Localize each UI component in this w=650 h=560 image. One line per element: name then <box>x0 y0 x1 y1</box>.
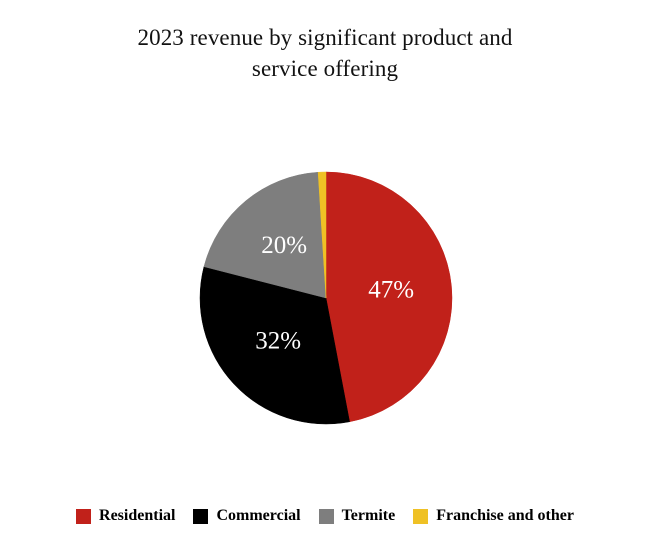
legend-item-termite[interactable]: Termite <box>319 508 396 524</box>
legend-label-residential: Residential <box>99 508 175 524</box>
pie-chart-figure: 2023 revenue by significant product and … <box>0 0 650 560</box>
legend-item-franchise-and-other[interactable]: Franchise and other <box>413 508 574 524</box>
legend-label-termite: Termite <box>342 508 396 524</box>
pie-slice-group <box>200 172 452 424</box>
chart-legend: ResidentialCommercialTermiteFranchise an… <box>0 503 650 529</box>
legend-swatch-commercial <box>193 509 208 524</box>
legend-label-commercial: Commercial <box>216 508 300 524</box>
pie-plot-area: 47%32%20% <box>0 0 650 470</box>
legend-swatch-franchise-and-other <box>413 509 428 524</box>
pie-svg: 47%32%20% <box>0 0 650 470</box>
legend-item-commercial[interactable]: Commercial <box>193 508 300 524</box>
legend-item-residential[interactable]: Residential <box>76 508 175 524</box>
pie-slice-label-termite: 20% <box>261 232 307 259</box>
legend-swatch-termite <box>319 509 334 524</box>
pie-slice-label-commercial: 32% <box>255 328 301 355</box>
legend-swatch-residential <box>76 509 91 524</box>
pie-slice-label-residential: 47% <box>368 277 414 304</box>
legend-label-franchise-and-other: Franchise and other <box>436 508 574 524</box>
